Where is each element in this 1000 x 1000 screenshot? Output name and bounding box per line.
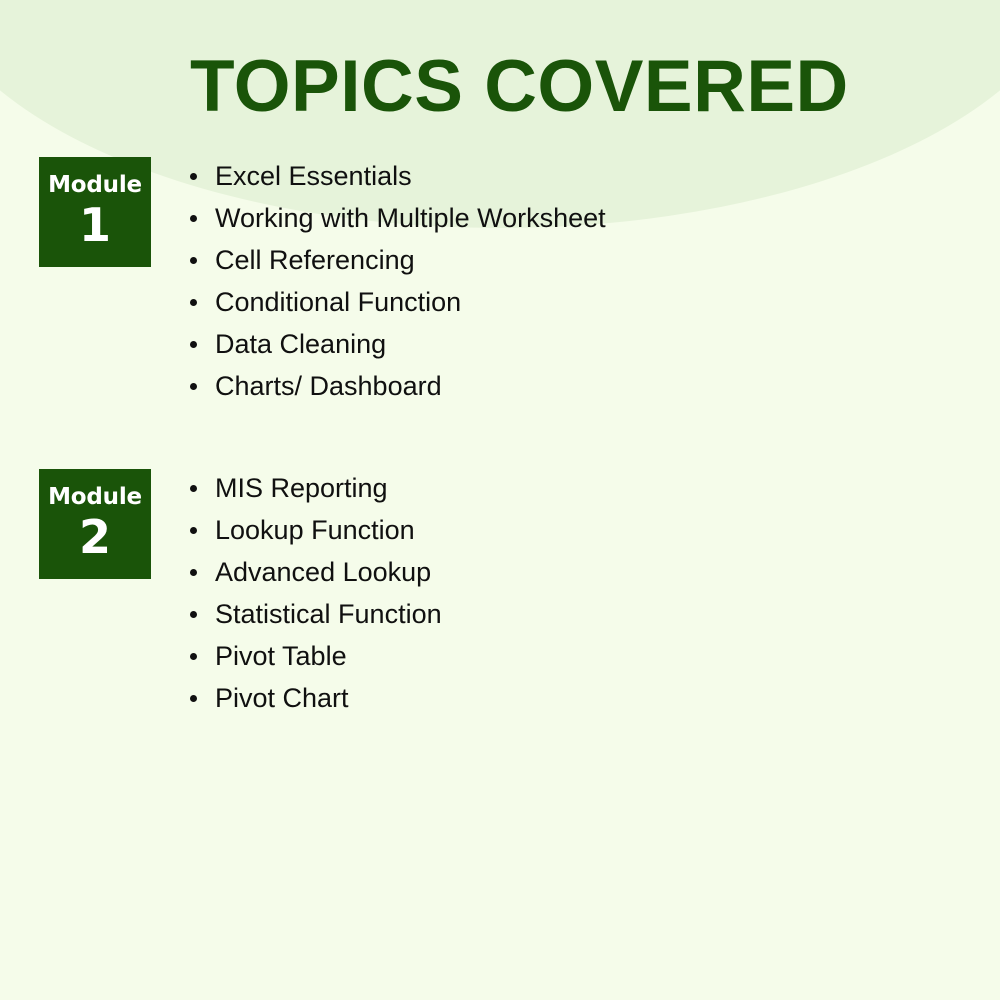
topic-label: Data Cleaning	[215, 329, 386, 359]
slide-canvas: TOPICS COVERED Module 1 Excel Essentials…	[0, 0, 1000, 1000]
bullet-dot-icon	[190, 341, 197, 348]
bullet-dot-icon	[190, 653, 197, 660]
module-badge-label: Module	[48, 486, 142, 509]
topic-label: Pivot Table	[215, 641, 347, 671]
list-item: Working with Multiple Worksheet	[186, 197, 606, 239]
topic-label: Conditional Function	[215, 287, 461, 317]
bullet-dot-icon	[190, 215, 197, 222]
bullet-dot-icon	[190, 485, 197, 492]
list-item: Pivot Table	[186, 635, 442, 677]
module-badge-number: 2	[79, 513, 111, 561]
bullet-dot-icon	[190, 173, 197, 180]
list-item: Conditional Function	[186, 281, 606, 323]
list-item: Charts/ Dashboard	[186, 365, 606, 407]
topic-label: Excel Essentials	[215, 161, 412, 191]
topic-label: Charts/ Dashboard	[215, 371, 442, 401]
bullet-dot-icon	[190, 569, 197, 576]
bullet-dot-icon	[190, 527, 197, 534]
topic-list-module-1: Excel Essentials Working with Multiple W…	[186, 155, 606, 407]
page-title: TOPICS COVERED	[190, 50, 849, 123]
topic-label: Statistical Function	[215, 599, 442, 629]
list-item: Lookup Function	[186, 509, 442, 551]
topic-label: Lookup Function	[215, 515, 415, 545]
list-item: Data Cleaning	[186, 323, 606, 365]
module-badge-label: Module	[48, 174, 142, 197]
topic-label: MIS Reporting	[215, 473, 388, 503]
list-item: Advanced Lookup	[186, 551, 442, 593]
topic-label: Advanced Lookup	[215, 557, 431, 587]
list-item: Cell Referencing	[186, 239, 606, 281]
bullet-dot-icon	[190, 299, 197, 306]
module-badge-1: Module 1	[39, 157, 151, 267]
list-item: MIS Reporting	[186, 467, 442, 509]
topic-label: Working with Multiple Worksheet	[215, 203, 606, 233]
list-item: Statistical Function	[186, 593, 442, 635]
topic-label: Pivot Chart	[215, 683, 349, 713]
bullet-dot-icon	[190, 257, 197, 264]
bullet-dot-icon	[190, 611, 197, 618]
bullet-dot-icon	[190, 695, 197, 702]
list-item: Pivot Chart	[186, 677, 442, 719]
list-item: Excel Essentials	[186, 155, 606, 197]
bullet-dot-icon	[190, 383, 197, 390]
topic-list-module-2: MIS Reporting Lookup Function Advanced L…	[186, 467, 442, 719]
topic-label: Cell Referencing	[215, 245, 415, 275]
module-badge-number: 1	[79, 201, 111, 249]
module-badge-2: Module 2	[39, 469, 151, 579]
